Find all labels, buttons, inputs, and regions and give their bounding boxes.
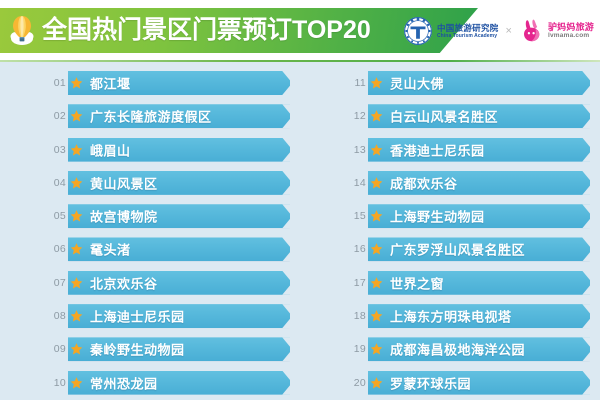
attraction-name: 鼋头渚	[90, 240, 131, 259]
rank-number: 19	[348, 343, 366, 355]
star-icon	[70, 243, 83, 256]
rank-number: 17	[348, 277, 366, 289]
rank-number: 20	[348, 377, 366, 389]
attraction-name: 秦岭野生动物园	[90, 340, 185, 359]
page-title: 全国热门景区门票预订TOP20	[42, 13, 371, 47]
rank-number: 01	[48, 77, 66, 89]
rank-number: 03	[48, 144, 66, 156]
attraction-name: 上海迪士尼乐园	[90, 307, 185, 326]
star-icon	[70, 376, 83, 389]
star-icon	[70, 310, 83, 323]
ranking-column-right: 11灵山大佛12白云山风景名胜区13香港迪士尼乐园14成都欢乐谷15上海野生动物…	[300, 68, 600, 388]
ranking-row[interactable]: 16广东罗浮山风景名胜区	[300, 234, 600, 264]
star-icon	[370, 210, 383, 223]
cta-name-en: China Tourism Academy	[437, 34, 499, 39]
ranking-row[interactable]: 12白云山风景名胜区	[300, 101, 600, 131]
star-icon	[70, 110, 83, 123]
hot-air-balloon-icon	[10, 14, 34, 48]
star-icon	[70, 77, 83, 90]
star-icon	[70, 343, 83, 356]
star-icon	[370, 143, 383, 156]
cta-emblem-icon	[403, 16, 433, 46]
ranking-row[interactable]: 07北京欢乐谷	[0, 268, 300, 298]
rank-number: 12	[348, 110, 366, 122]
rank-number: 11	[348, 77, 366, 89]
star-icon	[370, 343, 383, 356]
lvmama-name-cn: 驴妈妈旅游	[548, 23, 594, 32]
ranking-list: 01都江堰02广东长隆旅游度假区03峨眉山04黄山风景区05故宫博物院06鼋头渚…	[0, 68, 600, 388]
rank-number: 09	[48, 343, 66, 355]
lvmama-logo-text: 驴妈妈旅游 lvmama.com	[548, 23, 594, 40]
ranking-row[interactable]: 13香港迪士尼乐园	[300, 135, 600, 165]
rank-number: 14	[348, 177, 366, 189]
attraction-name: 广东长隆旅游度假区	[90, 107, 212, 126]
china-tourism-academy-logo: 中国旅游研究院 China Tourism Academy	[403, 16, 499, 46]
ranking-row[interactable]: 20罗蒙环球乐园	[300, 368, 600, 398]
star-icon	[70, 143, 83, 156]
ranking-row[interactable]: 14成都欢乐谷	[300, 168, 600, 198]
ranking-row[interactable]: 09秦岭野生动物园	[0, 334, 300, 364]
star-icon	[370, 77, 383, 90]
ranking-row[interactable]: 17世界之窗	[300, 268, 600, 298]
ranking-row[interactable]: 06鼋头渚	[0, 234, 300, 264]
lvmama-logo: 驴妈妈旅游 lvmama.com	[519, 18, 594, 44]
ranking-row[interactable]: 05故宫博物院	[0, 201, 300, 231]
ranking-row[interactable]: 15上海野生动物园	[300, 201, 600, 231]
ranking-row[interactable]: 19成都海昌极地海洋公园	[300, 334, 600, 364]
attraction-name: 成都欢乐谷	[390, 173, 458, 192]
attraction-name: 广东罗浮山风景名胜区	[390, 240, 525, 259]
rank-number: 13	[348, 144, 366, 156]
ranking-row[interactable]: 01都江堰	[0, 68, 300, 98]
rank-number: 16	[348, 243, 366, 255]
ranking-row[interactable]: 02广东长隆旅游度假区	[0, 101, 300, 131]
ranking-row[interactable]: 10常州恐龙园	[0, 368, 300, 398]
ranking-row[interactable]: 08上海迪士尼乐园	[0, 301, 300, 331]
star-icon	[370, 376, 383, 389]
star-icon	[370, 243, 383, 256]
rank-number: 02	[48, 110, 66, 122]
attraction-name: 都江堰	[90, 74, 131, 93]
attraction-name: 香港迪士尼乐园	[390, 140, 485, 159]
lvmama-rabbit-icon	[519, 18, 545, 44]
rank-number: 05	[48, 210, 66, 222]
attraction-name: 上海东方明珠电视塔	[390, 307, 512, 326]
attraction-name: 故宫博物院	[90, 207, 158, 226]
ranking-row[interactable]: 11灵山大佛	[300, 68, 600, 98]
rank-number: 15	[348, 210, 366, 222]
star-icon	[70, 210, 83, 223]
star-icon	[370, 310, 383, 323]
rank-number: 04	[48, 177, 66, 189]
star-icon	[370, 110, 383, 123]
cta-logo-text: 中国旅游研究院 China Tourism Academy	[437, 24, 499, 39]
star-icon	[70, 276, 83, 289]
attraction-name: 世界之窗	[390, 273, 444, 292]
rank-number: 07	[48, 277, 66, 289]
lvmama-name-en: lvmama.com	[548, 33, 594, 40]
page-header: 全国热门景区门票预订TOP20	[0, 0, 600, 62]
rank-number: 08	[48, 310, 66, 322]
rank-number: 06	[48, 243, 66, 255]
attraction-name: 常州恐龙园	[90, 373, 158, 392]
attraction-name: 上海野生动物园	[390, 207, 485, 226]
ranking-column-left: 01都江堰02广东长隆旅游度假区03峨眉山04黄山风景区05故宫博物院06鼋头渚…	[0, 68, 300, 388]
ranking-row[interactable]: 18上海东方明珠电视塔	[300, 301, 600, 331]
star-icon	[70, 176, 83, 189]
header-divider	[0, 60, 600, 62]
attraction-name: 黄山风景区	[90, 173, 158, 192]
attraction-name: 北京欢乐谷	[90, 273, 158, 292]
rank-number: 10	[48, 377, 66, 389]
star-icon	[370, 276, 383, 289]
logo-separator-icon: ×	[506, 25, 512, 37]
ranking-row[interactable]: 04黄山风景区	[0, 168, 300, 198]
attraction-name: 成都海昌极地海洋公园	[390, 340, 525, 359]
attraction-name: 白云山风景名胜区	[390, 107, 498, 126]
rank-number: 18	[348, 310, 366, 322]
ranking-row[interactable]: 03峨眉山	[0, 135, 300, 165]
cta-name-cn: 中国旅游研究院	[437, 24, 499, 33]
attraction-name: 罗蒙环球乐园	[390, 373, 471, 392]
partner-logos: 中国旅游研究院 China Tourism Academy × 驴妈妈旅游 lv…	[403, 12, 594, 50]
star-icon	[370, 176, 383, 189]
attraction-name: 峨眉山	[90, 140, 131, 159]
attraction-name: 灵山大佛	[390, 74, 444, 93]
